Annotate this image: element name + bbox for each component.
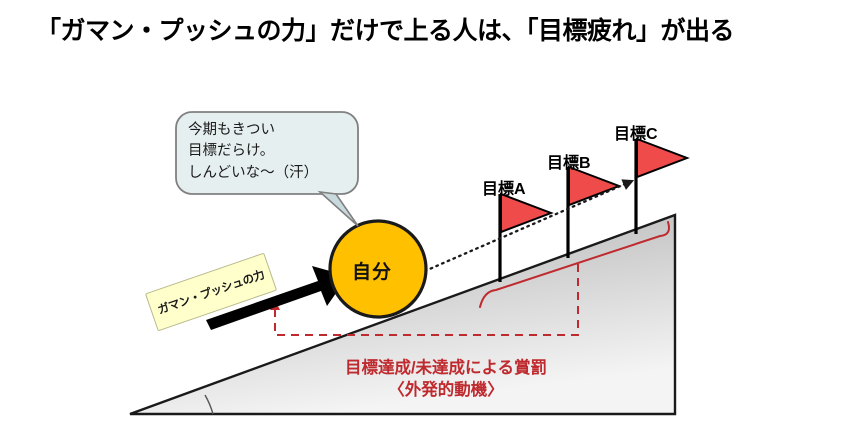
person-label: 自分 [352,257,392,284]
flag-label-b: 目標B [547,149,591,173]
bubble-line-3: しんどいな〜（汗） [188,163,318,184]
flag-triangle [637,139,687,177]
reward-line-2: 〈外発的動機〉 [296,379,596,401]
flag-label-c: 目標C [614,120,658,144]
reward-annotation: 目標達成/未達成による賞罰 〈外発的動機〉 [296,357,596,401]
bubble-text: 今期もきつい 目標だらけ。 しんどいな〜（汗） [188,120,318,184]
bubble-tail [320,192,358,226]
diagram-canvas: 「ガマン・プッシュの力」だけで上る人は、「目標疲れ」が出る [0,0,860,432]
reward-line-1: 目標達成/未達成による賞罰 [296,357,596,379]
flag-triangle [501,194,551,232]
bubble-line-2: 目標だらけ。 [188,141,318,162]
bubble-line-1: 今期もきつい [188,120,318,141]
flag-label-a: 目標A [482,175,526,199]
